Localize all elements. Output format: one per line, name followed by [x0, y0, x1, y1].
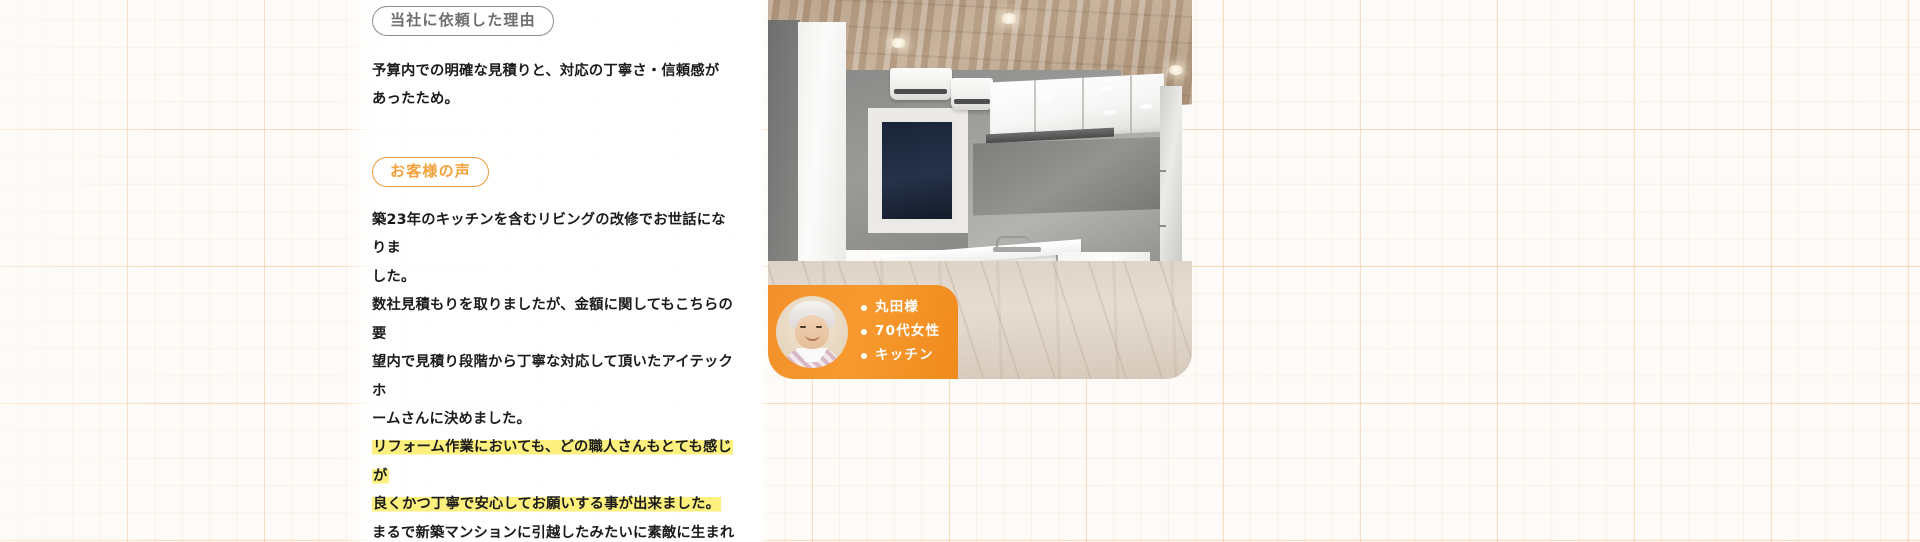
testimonial-panel: 当社に依頼した理由 予算内での明確な見積りと、対応の丁寧さ・信頼感が あったため…: [0, 0, 1920, 542]
voice-body-text: 築23年のキッチンを含むリビングの改修でお世話になりま した。 数社見積もりを取…: [372, 206, 740, 542]
voice-body-line-highlighted: リフォーム作業においても、どの職人さんもとても感じが: [372, 433, 740, 490]
customer-attribute-list: 丸田様 70代女性 キッチン: [861, 296, 940, 367]
list-item: キッチン: [861, 344, 940, 368]
bullet-icon: [861, 353, 867, 359]
voice-body-line-highlighted: 良くかつ丁寧で安心してお願いする事が出来ました。: [372, 490, 740, 518]
voice-body-line: した。: [372, 263, 740, 291]
renovated-kitchen-photo: 丸田様 70代女性 キッチン: [768, 0, 1192, 379]
dark-window: [878, 118, 956, 223]
downlight-icon: [1168, 65, 1184, 75]
customer-info-badge: 丸田様 70代女性 キッチン: [768, 285, 958, 379]
voice-body-line: まるで新築マンションに引越したみたいに素敵に生まれ変: [372, 519, 740, 542]
reason-heading-pill: 当社に依頼した理由: [372, 6, 554, 36]
voice-heading-pill: お客様の声: [372, 157, 489, 187]
voice-body-line: ームさんに決めました。: [372, 405, 740, 433]
reason-body-line: あったため。: [372, 85, 740, 113]
bullet-icon: [861, 305, 867, 311]
testimonial-text-column: 当社に依頼した理由 予算内での明確な見積りと、対応の丁寧さ・信頼感が あったため…: [372, 0, 740, 542]
list-item: 70代女性: [861, 320, 940, 344]
customer-name: 丸田様: [875, 296, 919, 320]
bullet-icon: [861, 329, 867, 335]
air-conditioner-outlet-icon: [951, 78, 993, 110]
kitchen-backsplash: [973, 136, 1178, 215]
voice-body-line: 築23年のキッチンを含むリビングの改修でお世話になりま: [372, 206, 740, 263]
voice-body-line: 数社見積もりを取りましたが、金額に関してもこちらの要: [372, 291, 740, 348]
sink-fixtures: [993, 247, 1041, 252]
voice-body-line: 望内で見積り段階から丁寧な対応して頂いたアイテックホ: [372, 348, 740, 405]
downlight-icon: [890, 38, 907, 48]
downlight-icon: [1000, 13, 1018, 24]
reason-body-line: 予算内での明確な見積りと、対応の丁寧さ・信頼感が: [372, 57, 740, 85]
renovation-category: キッチン: [875, 344, 934, 368]
air-conditioner-icon: [890, 68, 952, 100]
customer-demographic: 70代女性: [875, 320, 940, 344]
list-item: 丸田様: [861, 296, 940, 320]
kitchen-photo-card: 丸田様 70代女性 キッチン: [768, 0, 1192, 379]
reason-body-text: 予算内での明確な見積りと、対応の丁寧さ・信頼感が あったため。: [372, 57, 740, 114]
voice-heading-wrap: お客様の声: [372, 157, 740, 187]
customer-avatar: [776, 296, 848, 368]
